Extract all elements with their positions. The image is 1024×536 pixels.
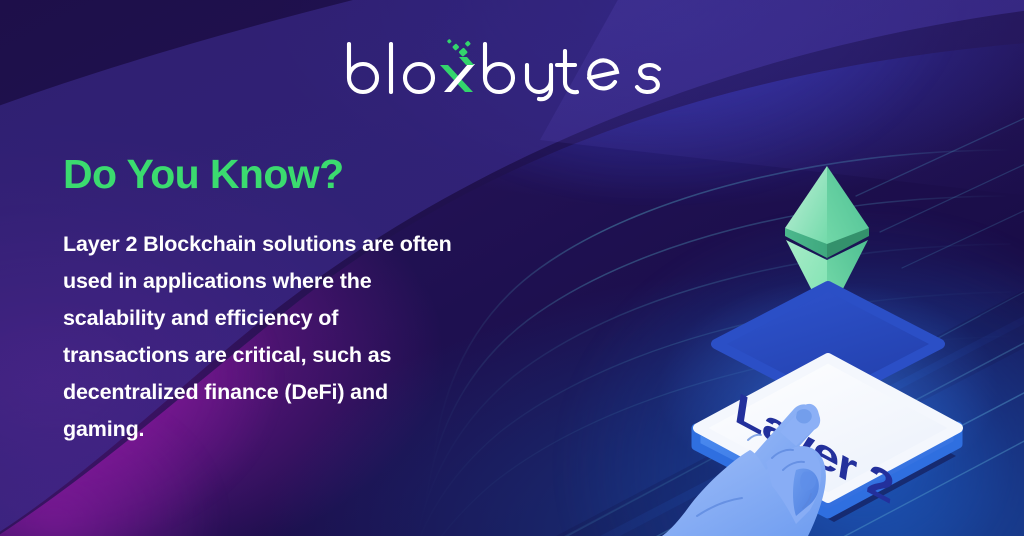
layer2-illustration: Layer 2: [600, 140, 1024, 536]
logo-wordmark-blox: [349, 44, 433, 92]
body-paragraph: Layer 2 Blockchain solutions are often u…: [63, 226, 463, 448]
body-rest: solutions are often used in applications…: [63, 232, 452, 441]
promo-banner: Do You Know? Layer 2 Blockchain solution…: [0, 0, 1024, 536]
logo-wordmark-bytes: [485, 44, 659, 99]
body-lead: Layer 2 Blockchain: [63, 232, 256, 256]
bloxbytes-logo[interactable]: [341, 38, 685, 102]
copy-block: Do You Know? Layer 2 Blockchain solution…: [63, 152, 473, 448]
logo-x-accent: [440, 39, 475, 92]
page-title: Do You Know?: [63, 152, 473, 198]
